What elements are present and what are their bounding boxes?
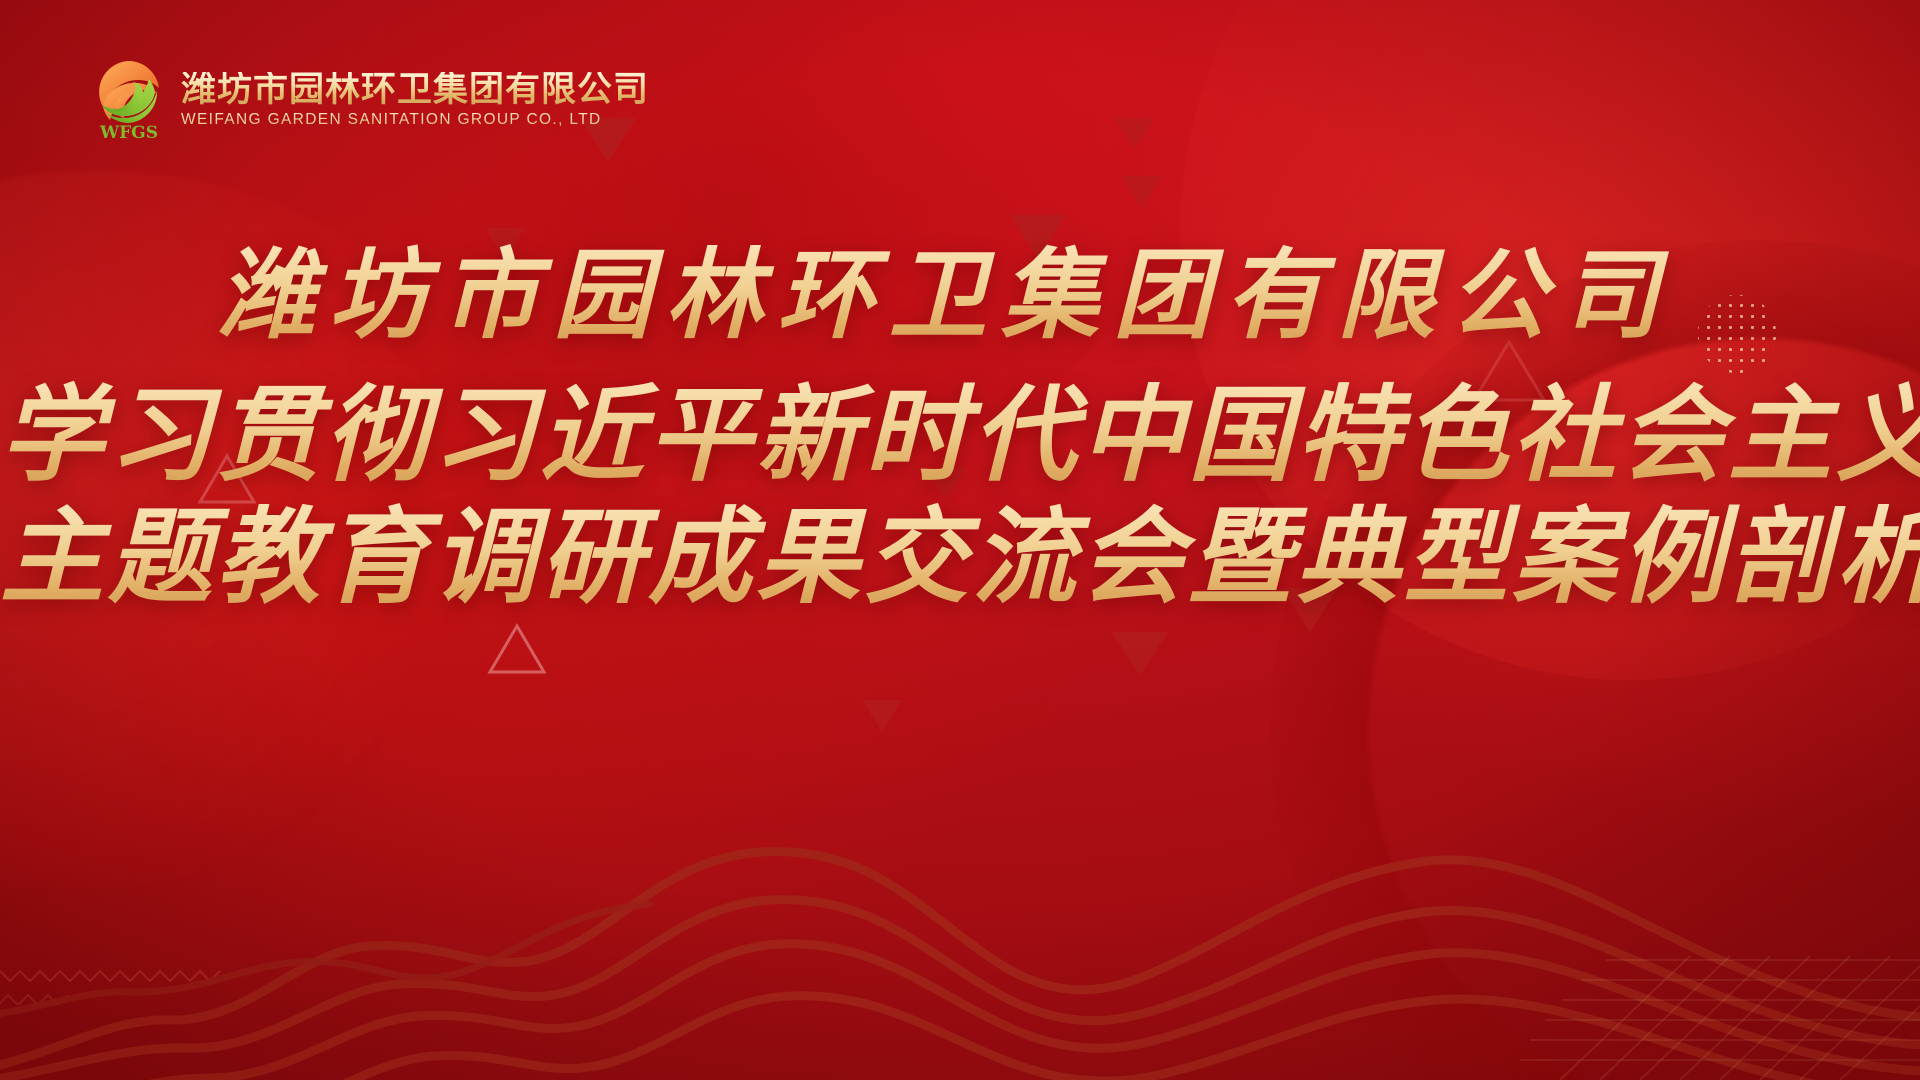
title-line-1: 潍坊市园林环卫集团有限公司 xyxy=(0,216,1920,358)
triangle-down-icon-3 xyxy=(1122,176,1162,208)
brand-name-en: WEIFANG GARDEN SANITATION GROUP CO., LTD xyxy=(181,111,649,128)
corner-grid-decoration xyxy=(1490,920,1920,1080)
brand-name-cn: 潍坊市园林环卫集团有限公司 xyxy=(181,72,649,109)
triangle-down-icon-8 xyxy=(862,700,902,732)
svg-text:WFGS: WFGS xyxy=(99,123,158,142)
triangle-down-icon-9 xyxy=(1112,632,1168,676)
brand-header: WFGS 潍坊市园林环卫集团有限公司 WEIFANG GARDEN SANITA… xyxy=(95,58,649,142)
triangle-down-icon-2 xyxy=(1115,118,1155,150)
wfgs-logo-icon: WFGS xyxy=(95,58,163,142)
triangle-up-outline-icon-2 xyxy=(486,622,548,676)
mountain-wave-decoration xyxy=(0,820,1920,1080)
poster-canvas: WFGS 潍坊市园林环卫集团有限公司 WEIFANG GARDEN SANITA… xyxy=(0,0,1920,1080)
brand-text-block: 潍坊市园林环卫集团有限公司 WEIFANG GARDEN SANITATION … xyxy=(181,72,649,128)
zigzag-pattern xyxy=(0,955,300,1005)
title-line-3: 主题教育调研成果交流会暨典型案例剖析会 xyxy=(0,472,1920,623)
